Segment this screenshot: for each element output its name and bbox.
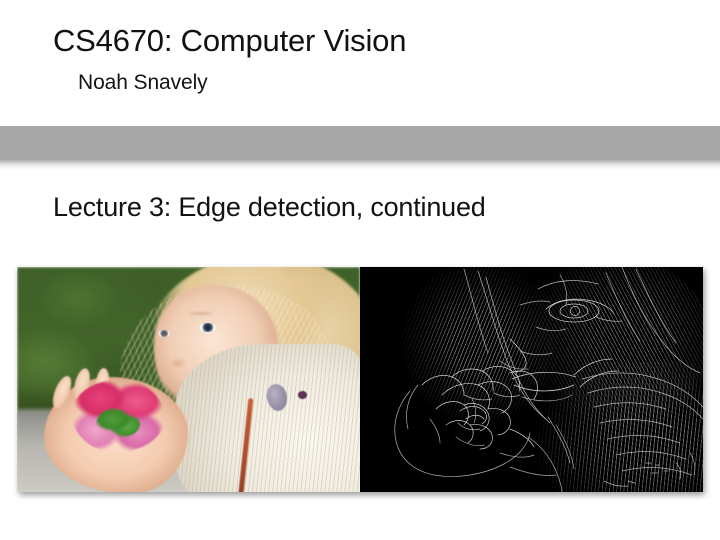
photo-eyebrow	[189, 312, 213, 315]
source-photograph	[17, 267, 360, 492]
edge-detection-result	[360, 267, 703, 492]
photo-flower-leaves	[96, 407, 141, 439]
gray-divider-bar	[0, 126, 720, 160]
figure-image-pair	[17, 267, 703, 492]
lecture-subtitle: Lecture 3: Edge detection, continued	[53, 190, 486, 224]
divider-shadow	[0, 160, 720, 171]
slide-canvas: CS4670: Computer Vision Noah Snavely Lec…	[0, 0, 720, 540]
photo-sweater-knit-texture	[175, 344, 360, 493]
title-block: CS4670: Computer Vision Noah Snavely	[0, 0, 720, 126]
page-title: CS4670: Computer Vision	[53, 22, 406, 60]
photo-eye-left	[158, 330, 170, 337]
author-name: Noah Snavely	[78, 70, 208, 96]
edge-contours	[360, 267, 703, 492]
photo-butterfly-pin	[298, 391, 307, 399]
